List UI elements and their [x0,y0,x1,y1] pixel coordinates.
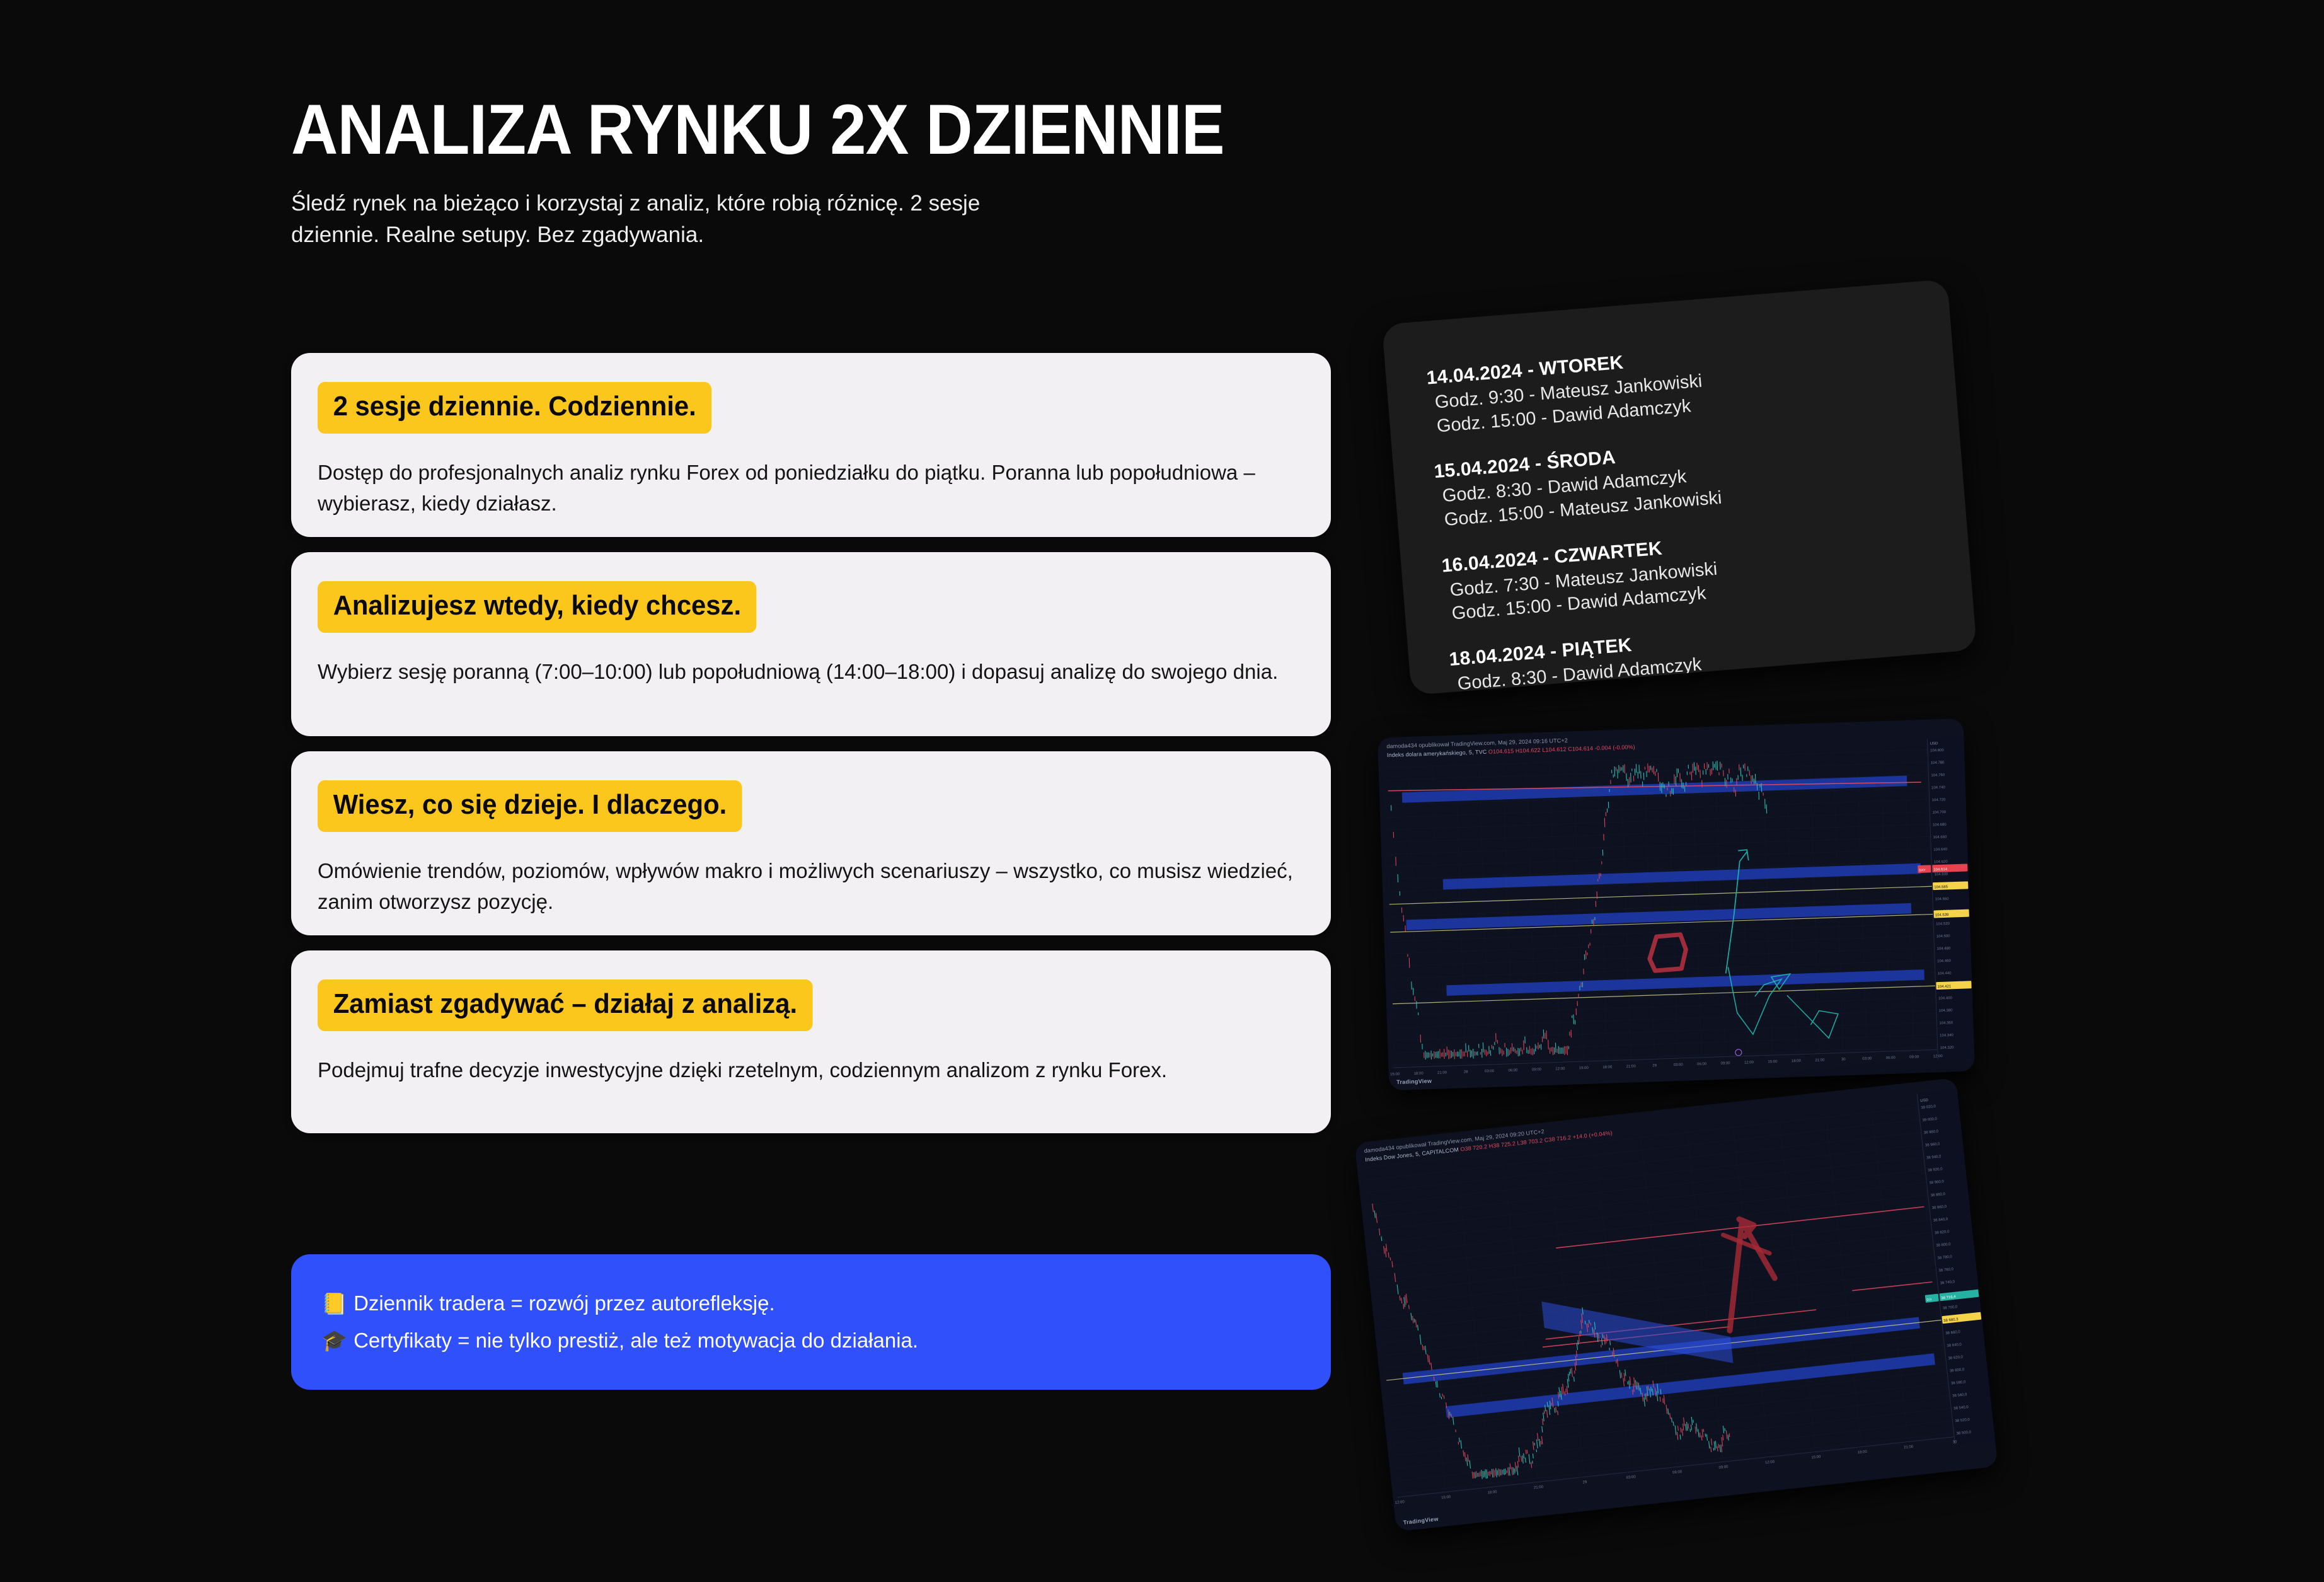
svg-text:104.585: 104.585 [1934,886,1948,890]
svg-text:12:00: 12:00 [1744,1061,1754,1065]
svg-text:104.780: 104.780 [1931,761,1945,765]
svg-text:104.500: 104.500 [1936,935,1951,939]
feature-card: 2 sesje dziennie. Codziennie. Dostęp do … [291,353,1331,537]
session-schedule-card: 14.04.2024 - WTOREK Godz. 9:30 - Mateusz… [1382,279,1977,695]
svg-text:09:00: 09:00 [1721,1061,1731,1066]
svg-text:104.340: 104.340 [1940,1034,1954,1038]
svg-text:21:00: 21:00 [1626,1065,1637,1069]
chart-change-value: -0.004 (-0.00%) [1594,744,1635,751]
feature-card: Wiesz, co się dzieje. I dlaczego. Omówie… [291,751,1331,935]
svg-text:104.440: 104.440 [1938,972,1952,976]
benefits-callout: 📒 Dziennik tradera = rozwój przez autore… [291,1254,1331,1390]
svg-text:104.421: 104.421 [1937,984,1952,989]
svg-text:18:00: 18:00 [1602,1065,1613,1070]
feature-card: Analizujesz wtedy, kiedy chcesz. Wybierz… [291,552,1331,736]
svg-text:104.480: 104.480 [1936,947,1951,951]
svg-text:104.380: 104.380 [1939,1009,1953,1013]
feature-card-list: 2 sesje dziennie. Codziennie. Dostęp do … [291,353,1331,1133]
tradingview-chart-dxy[interactable]: 104.800104.780104.760104.740104.720104.7… [1378,719,1975,1091]
schedule-day-block: 18.04.2024 - PIĄTEK Godz. 8:30 - Dawid A… [1448,607,1977,695]
svg-text:104.800: 104.800 [1930,749,1945,753]
page-title: ANALIZA RYNKU 2X DZIENNIE [291,95,1277,165]
svg-text:30: 30 [1841,1058,1846,1061]
svg-text:104.620: 104.620 [1934,860,1948,865]
feature-card-body: Podejmuj trafne decyzje inwestycyjne dzi… [318,1055,1298,1086]
schedule-day-block: 15.04.2024 - ŚRODA Godz. 8:30 - Dawid Ad… [1433,420,1964,533]
svg-text:21:00: 21:00 [1437,1071,1447,1075]
tradingview-chart-dji[interactable]: 39 020,039 000,038 980,038 960,038 940,0… [1354,1078,1998,1532]
schedule-day-block: 16.04.2024 - CZWARTEK Godz. 7:30 - Mateu… [1441,513,1971,626]
svg-text:104.400: 104.400 [1938,996,1953,1001]
svg-text:15:00: 15:00 [1768,1060,1778,1065]
feature-card-pill-title: Wiesz, co się dzieje. I dlaczego. [318,780,742,832]
feature-card-pill-title: Zamiast zgadywać – działaj z analizą. [318,979,813,1031]
svg-text:28: 28 [1464,1070,1469,1074]
svg-text:15:00: 15:00 [1390,1073,1400,1077]
schedule-day-block: 14.04.2024 - WTOREK Godz. 9:30 - Mateusz… [1426,326,1957,439]
svg-text:12:00: 12:00 [1555,1067,1565,1071]
svg-text:104.600: 104.600 [1935,872,1949,877]
svg-text:DXY: DXY [1919,869,1926,872]
svg-text:06:00: 06:00 [1697,1063,1707,1067]
svg-text:03:00: 03:00 [1674,1063,1684,1068]
svg-text:104.740: 104.740 [1931,786,1946,790]
callout-item-text: Dziennik tradera = rozwój przez autorefl… [354,1290,775,1317]
svg-text:03:00: 03:00 [1485,1070,1495,1074]
tradingview-watermark: TradingView [1396,1078,1432,1085]
svg-text:21:00: 21:00 [1815,1058,1825,1063]
svg-text:DJI: DJI [1926,1298,1931,1302]
notebook-emoji: 📒 [321,1293,347,1314]
svg-text:104.460: 104.460 [1937,959,1952,964]
chart-open-value: O104.615 [1488,748,1514,754]
graduation-cap-emoji: 🎓 [321,1330,347,1351]
svg-text:12:00: 12:00 [1933,1054,1943,1059]
svg-text:104.520: 104.520 [1936,922,1950,927]
svg-text:104.660: 104.660 [1933,835,1948,840]
callout-item: 🎓 Certyfikaty = nie tylko prestiż, ale t… [321,1327,1331,1354]
svg-text:104.539: 104.539 [1935,913,1950,918]
chart-low-value: L104.612 [1542,746,1567,753]
svg-text:03:00: 03:00 [1862,1057,1872,1061]
svg-text:104.760: 104.760 [1931,773,1945,778]
feature-card-body: Omówienie trendów, poziomów, wpływów mak… [318,856,1298,918]
svg-text:18:00: 18:00 [1414,1071,1424,1076]
svg-text:104.560: 104.560 [1935,898,1950,902]
svg-text:104.614: 104.614 [1933,868,1948,872]
dxy-chart-svg: 104.800104.780104.760104.740104.720104.7… [1378,719,1975,1091]
svg-text:29: 29 [1582,1481,1587,1485]
chart-close-value: C38 716.2 [1544,1134,1571,1143]
svg-text:104.360: 104.360 [1939,1021,1953,1025]
svg-text:104.700: 104.700 [1932,811,1947,815]
svg-text:104.320: 104.320 [1940,1046,1955,1051]
svg-text:09:00: 09:00 [1909,1055,1919,1059]
svg-text:30: 30 [1953,1440,1958,1445]
svg-text:15:00: 15:00 [1579,1066,1589,1071]
svg-text:18:00: 18:00 [1792,1059,1802,1064]
feature-card-pill-title: 2 sesje dziennie. Codziennie. [318,382,711,434]
feature-card-body: Dostęp do profesjonalnych analiz rynku F… [318,458,1298,519]
chart-low-value: L38 703.2 [1517,1137,1543,1146]
callout-item-text: Certyfikaty = nie tylko prestiż, ale też… [354,1327,918,1354]
feature-card: Zamiast zgadywać – działaj z analizą. Po… [291,950,1331,1133]
page-header: ANALIZA RYNKU 2X DZIENNIE Śledź rynek na… [291,95,1362,250]
svg-text:06:00: 06:00 [1886,1056,1896,1061]
svg-text:104.720: 104.720 [1932,798,1947,802]
svg-text:06:00: 06:00 [1508,1068,1518,1073]
chart-high-value: H104.622 [1516,747,1541,754]
callout-item: 📒 Dziennik tradera = rozwój przez autore… [321,1290,1331,1317]
feature-card-body: Wybierz sesję poranną (7:00–10:00) lub p… [318,657,1298,688]
svg-text:104.680: 104.680 [1933,823,1947,828]
svg-text:104.640: 104.640 [1933,848,1948,852]
feature-card-pill-title: Analizujesz wtedy, kiedy chcesz. [318,581,757,633]
svg-text:09:00: 09:00 [1532,1068,1542,1072]
svg-text:USD: USD [1930,742,1939,746]
page-subtitle: Śledź rynek na bieżąco i korzystaj z ana… [291,188,1066,250]
chart-close-value: C104.614 [1568,745,1593,752]
svg-text:29: 29 [1652,1064,1657,1068]
